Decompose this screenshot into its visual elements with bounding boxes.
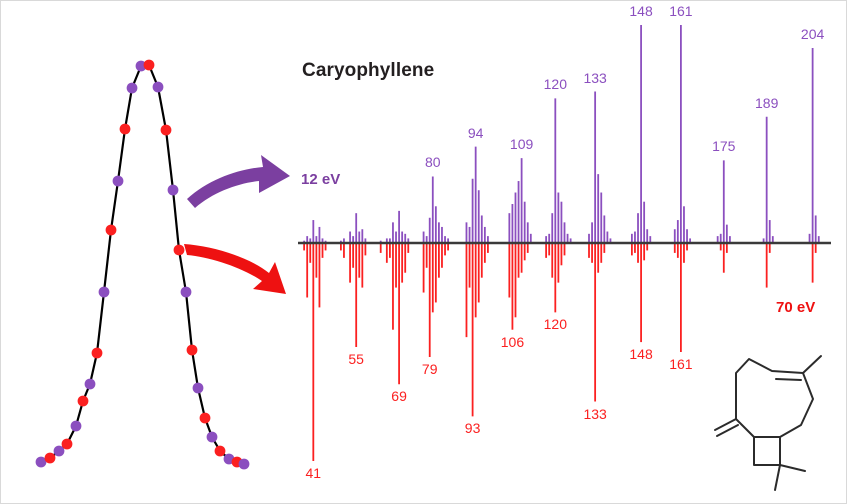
- peak-label-55: 55: [348, 351, 364, 367]
- peak-label-148: 148: [629, 346, 652, 362]
- peak-label-133: 133: [583, 70, 606, 86]
- peak-label-41: 41: [306, 465, 322, 481]
- peak-label-106: 106: [501, 334, 524, 350]
- peak-label-148: 148: [629, 3, 652, 19]
- high-energy-label: 70 eV: [776, 299, 815, 316]
- ring-double-bond-inner: [776, 379, 801, 380]
- peak-label-120: 120: [544, 76, 567, 92]
- peak-label-175: 175: [712, 138, 735, 154]
- cyclobutane-bonds: [754, 437, 780, 465]
- peak-label-120: 120: [544, 316, 567, 332]
- peak-label-80: 80: [425, 154, 441, 170]
- peak-label-161: 161: [669, 3, 692, 19]
- peak-label-204: 204: [801, 26, 824, 42]
- macrocycle-bonds: [736, 359, 813, 437]
- peak-label-161: 161: [669, 356, 692, 372]
- figure-canvas: Caryophyllene 12 eV 70 eV 80941091201331…: [0, 0, 847, 504]
- gem-methyl-bond-b: [775, 465, 780, 490]
- peak-label-189: 189: [755, 95, 778, 111]
- peak-label-69: 69: [391, 388, 407, 404]
- low-energy-label: 12 eV: [301, 171, 340, 188]
- vinyl-methyl-bond: [803, 356, 821, 373]
- peak-label-109: 109: [510, 136, 533, 152]
- figure-title: Caryophyllene: [302, 60, 434, 82]
- gem-methyl-bond-a: [780, 465, 805, 471]
- peak-label-79: 79: [422, 361, 438, 377]
- peak-label-133: 133: [583, 406, 606, 422]
- peak-label-93: 93: [465, 420, 481, 436]
- peak-label-94: 94: [468, 125, 484, 141]
